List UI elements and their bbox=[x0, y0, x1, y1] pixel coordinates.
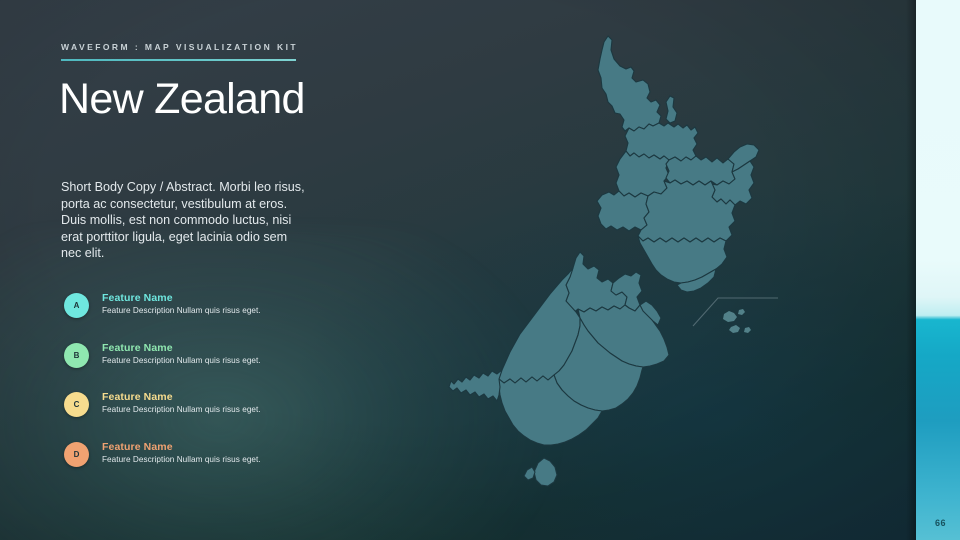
feature-description-c: Feature Description Nullam quis risus eg… bbox=[102, 404, 261, 416]
feature-text-b: Feature Name Feature Description Nullam … bbox=[102, 341, 261, 367]
feature-description-d: Feature Description Nullam quis risus eg… bbox=[102, 454, 261, 466]
edge-color-band: 66 bbox=[916, 0, 960, 540]
south-island-group bbox=[449, 252, 669, 486]
edge-band-shadow bbox=[906, 0, 916, 540]
chatham-islands-inset bbox=[693, 298, 778, 333]
feature-title-c: Feature Name bbox=[102, 390, 261, 404]
feature-badge-a: A bbox=[64, 293, 89, 318]
feature-text-c: Feature Name Feature Description Nullam … bbox=[102, 390, 261, 416]
feature-list: A Feature Name Feature Description Nulla… bbox=[64, 293, 394, 491]
feature-title-b: Feature Name bbox=[102, 341, 261, 355]
feature-title-d: Feature Name bbox=[102, 440, 261, 454]
feature-badge-b: B bbox=[64, 343, 89, 368]
map-new-zealand[interactable] bbox=[398, 26, 868, 526]
kicker-rule bbox=[61, 59, 296, 61]
feature-text-a: Feature Name Feature Description Nullam … bbox=[102, 291, 261, 317]
kicker-label: WAVEFORM : MAP VISUALIZATION KIT bbox=[61, 42, 298, 52]
feature-item-a[interactable]: A Feature Name Feature Description Nulla… bbox=[64, 293, 394, 343]
feature-badge-d: D bbox=[64, 442, 89, 467]
north-island-group bbox=[597, 36, 759, 292]
page-number: 66 bbox=[935, 518, 946, 528]
slide: WAVEFORM : MAP VISUALIZATION KIT New Zea… bbox=[0, 0, 960, 540]
feature-text-d: Feature Name Feature Description Nullam … bbox=[102, 440, 261, 466]
body-copy: Short Body Copy / Abstract. Morbi leo ri… bbox=[61, 179, 305, 262]
page-title: New Zealand bbox=[59, 77, 305, 122]
feature-item-d[interactable]: D Feature Name Feature Description Nulla… bbox=[64, 442, 394, 492]
content-column: WAVEFORM : MAP VISUALIZATION KIT New Zea… bbox=[61, 0, 391, 540]
feature-item-b[interactable]: B Feature Name Feature Description Nulla… bbox=[64, 343, 394, 393]
feature-badge-c: C bbox=[64, 392, 89, 417]
feature-title-a: Feature Name bbox=[102, 291, 261, 305]
feature-item-c[interactable]: C Feature Name Feature Description Nulla… bbox=[64, 392, 394, 442]
feature-description-b: Feature Description Nullam quis risus eg… bbox=[102, 355, 261, 367]
feature-description-a: Feature Description Nullam quis risus eg… bbox=[102, 305, 261, 317]
